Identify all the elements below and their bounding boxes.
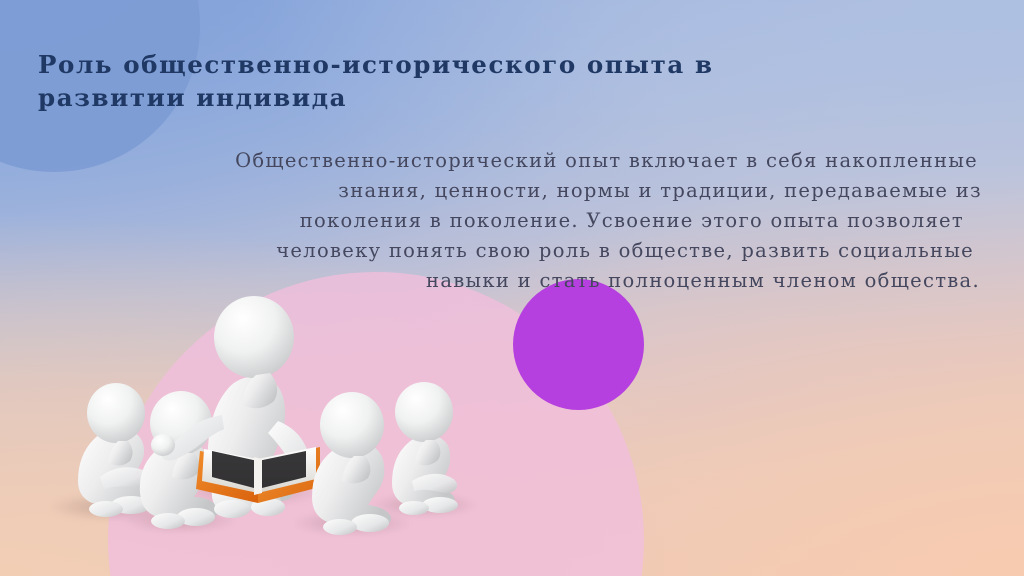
slide-body-text: Общественно-исторический опыт включает в… <box>46 146 982 296</box>
figure-listener-right <box>312 392 391 535</box>
group-of-figures-reading-illustration <box>0 255 520 576</box>
decorative-circle-purple <box>513 279 644 410</box>
body-line-5: навыки и стать полноценным членом общест… <box>46 266 982 296</box>
figure-listener-far-right <box>392 382 458 515</box>
body-line-2: знания, ценности, нормы и традиции, пере… <box>46 176 982 206</box>
presentation-slide: Роль общественно-исторического опыта в р… <box>0 0 1024 576</box>
body-line-4: человеку понять свою роль в обществе, ра… <box>46 236 982 266</box>
slide-title: Роль общественно-исторического опыта в р… <box>38 48 718 114</box>
body-line-1: Общественно-исторический опыт включает в… <box>46 146 982 176</box>
body-line-3: поколения в поколение. Усвоение этого оп… <box>46 206 982 236</box>
